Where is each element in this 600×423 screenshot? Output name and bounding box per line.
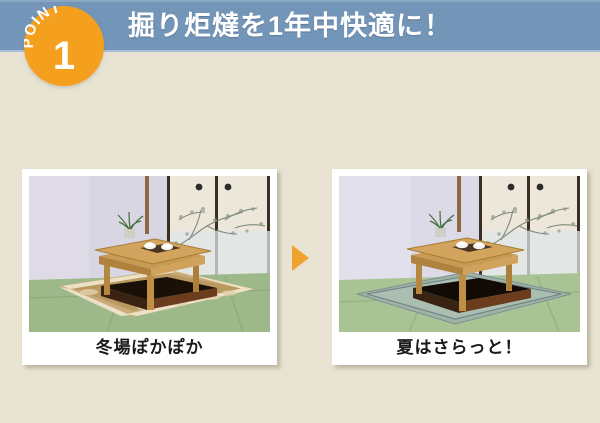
before-caption: 冬場ぽかぽか xyxy=(29,332,270,365)
point-number: 1 xyxy=(24,34,104,78)
horigotatsu-winter-illustration xyxy=(29,176,270,332)
point-badge: POINT 1 xyxy=(24,6,104,86)
after-caption: 夏はさらっと！ xyxy=(339,332,580,365)
horigotatsu-summer-illustration xyxy=(339,176,580,332)
before-photo-card: 冬場ぽかぽか xyxy=(22,169,277,365)
after-photo xyxy=(339,176,580,332)
triangle-right-icon xyxy=(292,245,309,271)
before-photo xyxy=(29,176,270,332)
after-photo-card: 夏はさらっと！ xyxy=(332,169,587,365)
page-title: 掘り炬燵を1年中快適に！ xyxy=(128,7,452,45)
